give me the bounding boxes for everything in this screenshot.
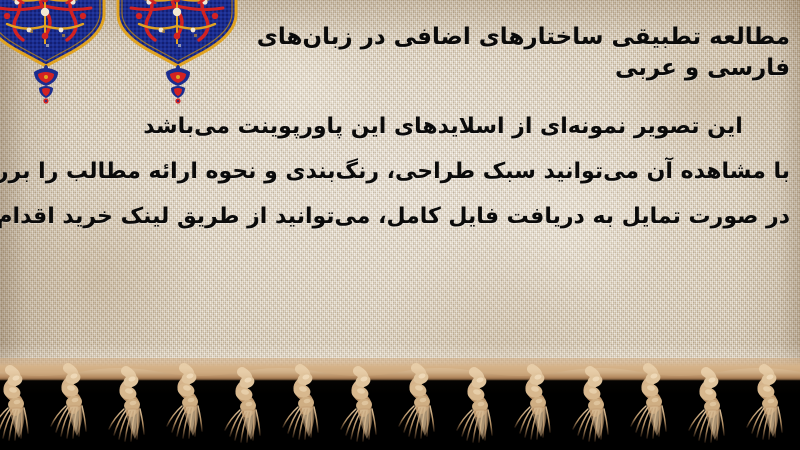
slide-body: این تصویر نمونه‌ای از اسلایدهای این پاور… [96,104,790,239]
carpet-rope-edge [0,362,800,380]
slide-title: مطالعه تطبیقی ساختارهای اضافی در زبان‌ها… [230,22,790,84]
body-line-3: در صورت تمایل به دریافت فایل کامل، می‌تو… [96,194,790,239]
body-line-2: با مشاهده آن می‌توانید سبک طراحی، رنگ‌بن… [96,149,790,194]
body-line-1: این تصویر نمونه‌ای از اسلایدهای این پاور… [96,104,790,149]
presentation-slide: مطالعه تطبیقی ساختارهای اضافی در زبان‌ها… [0,0,800,450]
black-bottom-field [0,372,800,450]
